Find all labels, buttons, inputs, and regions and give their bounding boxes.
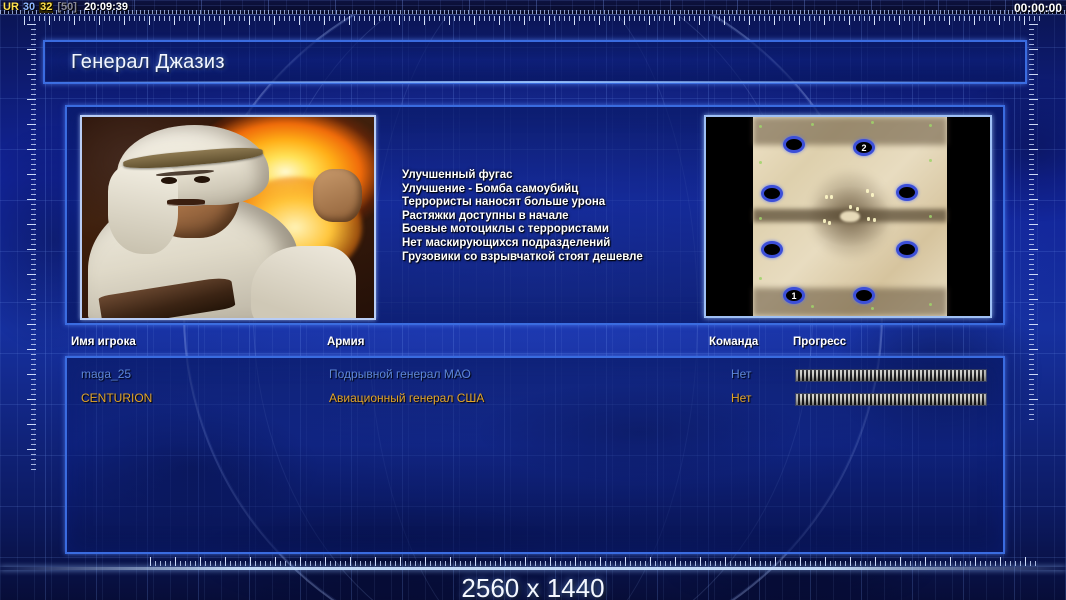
player-progress-bar (795, 393, 987, 406)
player-list-box: maga_25Подрывной генерал МАОНетCENTURION… (65, 356, 1005, 554)
map-terrain-marker (811, 123, 814, 126)
ruler-right-decoration (1029, 24, 1040, 424)
map-resource-marker (830, 195, 833, 199)
footer-divider (0, 567, 1066, 570)
ruler-top-decoration (24, 16, 1042, 27)
map-center-basin (840, 211, 859, 223)
map-start-position (853, 287, 875, 304)
map-start-position (783, 136, 805, 153)
page-title: Генерал Джазиз (71, 51, 225, 74)
player-progress-bar (795, 369, 987, 382)
map-ridge-bottom (753, 288, 947, 316)
general-bonus-list: Улучшенный фугасУлучшение - Бомба самоуб… (402, 169, 722, 264)
bonus-line: Террористы наносят больше урона (402, 196, 722, 210)
system-clock: 20:09:39 (84, 2, 128, 13)
map-start-position (896, 241, 918, 258)
top-bar-ticks (0, 10, 1066, 14)
resolution-label: 2560 x 1440 (0, 573, 1066, 600)
network-stats: UR 30 32 [50] 20:09:39 (3, 0, 128, 15)
map-start-position (896, 184, 918, 201)
map-resource-marker (856, 207, 859, 211)
general-portrait-image (82, 117, 374, 318)
top-status-bar: UR 30 32 [50] 20:09:39 00:00:00 (0, 0, 1066, 15)
map-terrain-marker (811, 305, 814, 308)
map-start-position: 1 (783, 287, 805, 304)
title-box: Генерал Джазиз (43, 40, 1027, 84)
map-terrain-marker (929, 303, 932, 306)
ruler-bottom-decoration (150, 555, 1040, 566)
map-resource-marker (871, 193, 874, 197)
map-terrain-marker (929, 124, 932, 127)
portrait-mouth (167, 199, 205, 205)
progress-fill (796, 370, 986, 381)
map-resource-marker (828, 221, 831, 225)
player-name: CENTURION (81, 391, 152, 405)
player-army: Подрывной генерал МАО (329, 367, 471, 381)
player-team: Нет (731, 367, 751, 381)
player-team: Нет (731, 391, 751, 405)
stat-ur-label: UR (3, 2, 19, 13)
player-list-headers: Имя игрока Армия Команда Прогресс (65, 336, 1005, 356)
map-terrain-marker (759, 277, 762, 280)
header-progress: Прогресс (793, 336, 846, 348)
general-portrait-frame (80, 115, 376, 320)
match-timer: 00:00:00 (1014, 0, 1062, 15)
bonus-line: Боевые мотоциклы с террористами (402, 223, 722, 237)
map-resource-marker (873, 218, 876, 222)
map-resource-marker (825, 195, 828, 199)
map-terrain-marker (871, 307, 874, 310)
map-resource-marker (866, 189, 869, 193)
map-terrain-marker (759, 125, 762, 128)
player-row[interactable]: maga_25Подрывной генерал МАОНет (67, 364, 1007, 388)
progress-track (795, 369, 987, 382)
progress-track (795, 393, 987, 406)
stat-max-value: [50] (57, 2, 77, 13)
media-box: Улучшенный фугасУлучшение - Бомба самоуб… (65, 105, 1005, 325)
map-start-position (761, 185, 783, 202)
map-resource-marker (823, 219, 826, 223)
map-resource-marker (849, 205, 852, 209)
map-terrain-marker (871, 121, 874, 124)
bonus-line: Улучшение - Бомба самоубийц (402, 183, 722, 197)
map-terrain-marker (759, 161, 762, 164)
map-resource-marker (867, 217, 870, 221)
map-ridge-top (753, 117, 947, 145)
bonus-line: Нет маскирующихся подразделений (402, 237, 722, 251)
map-preview-image: 21 (753, 117, 947, 316)
portrait-hand (313, 169, 363, 221)
stat-ping-value: 30 (23, 2, 35, 13)
title-underline (45, 81, 1025, 83)
bonus-line: Грузовики со взрывчаткой стоят дешевле (402, 251, 722, 265)
player-army: Авиационный генерал США (329, 391, 484, 405)
loading-screen-panel: Генерал Джазиз (43, 40, 1027, 556)
header-team: Команда (709, 336, 758, 348)
header-army: Армия (327, 336, 364, 348)
header-player-name: Имя игрока (71, 336, 136, 348)
map-terrain-marker (929, 159, 932, 162)
map-terrain-marker (929, 215, 932, 218)
player-name: maga_25 (81, 367, 131, 381)
bonus-line: Улучшенный фугас (402, 169, 722, 183)
player-row[interactable]: CENTURIONАвиационный генерал СШАНет (67, 388, 1007, 412)
map-terrain-marker (759, 217, 762, 220)
map-preview-frame: 21 (704, 115, 992, 318)
map-start-position (761, 241, 783, 258)
portrait-eye-right (194, 176, 210, 183)
ruler-left-decoration (25, 24, 36, 474)
bonus-line: Растяжки доступны в начале (402, 210, 722, 224)
stat-fps-value: 32 (39, 2, 53, 13)
progress-fill (796, 394, 986, 405)
map-start-position: 2 (853, 139, 875, 156)
